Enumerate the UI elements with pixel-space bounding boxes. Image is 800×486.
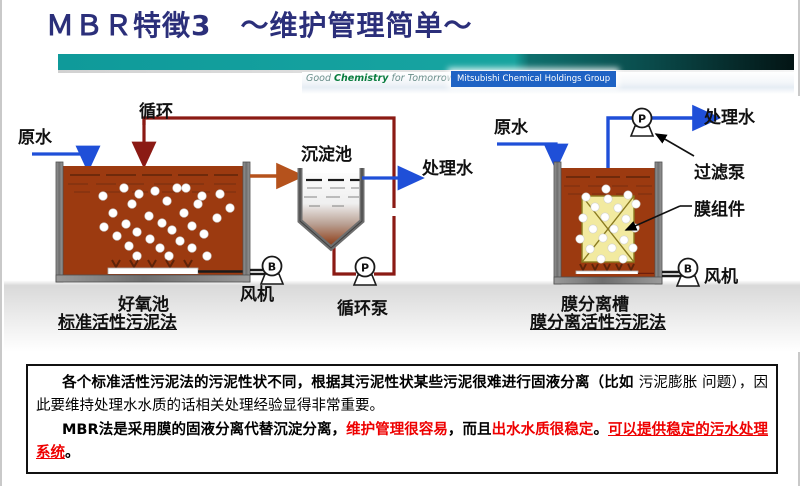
filter-pump-symbol: P — [631, 109, 653, 137]
right-process-group: B P — [497, 109, 716, 287]
brand-bar — [58, 54, 794, 70]
caption-right: 膜分离活性污泥法 — [530, 308, 666, 333]
process-diagram-area: B — [4, 96, 800, 352]
svg-text:B: B — [684, 263, 692, 276]
label-effluent-right: 处理水 — [704, 103, 755, 128]
svg-text:P: P — [361, 262, 369, 275]
caption-left: 标准活性污泥法 — [58, 308, 177, 333]
brand-group-box: Mitsubishi Chemical Holdings Group — [451, 71, 616, 87]
p2-part-a: MBR法是采用膜的固液分离代替沉淀分离， — [62, 422, 346, 438]
label-recycle-pump: 循环泵 — [337, 294, 388, 319]
description-textbox: 各个标准活性污泥法的污泥性状不同，根据其污泥性状某些污泥很难进行固液分离（比如 … — [26, 364, 778, 474]
p2-highlight-1: 维护管理很容易 — [346, 422, 448, 438]
p2-highlight-2: 出水水质很稳定 — [492, 422, 594, 438]
p1-part-b: 污泥膨胀 — [639, 375, 698, 391]
blower-symbol-right: B — [677, 259, 699, 287]
label-influent-right: 原水 — [494, 113, 528, 138]
label-blower-left: 风机 — [240, 280, 274, 305]
label-filter-pump: 过滤泵 — [694, 158, 745, 183]
p2-part-c: 。 — [593, 422, 608, 438]
label-influent-left: 原水 — [18, 123, 52, 148]
slide-root: ＭＢＲ特徴3 ～维护管理简单～ Good Chemistry for Tomor… — [0, 0, 800, 486]
tagline-chemistry: Chemistry — [334, 73, 388, 84]
left-process-group: B — [32, 118, 420, 285]
p1-part-a: 各个标准活性污泥法的污泥性状不同，根据其污泥性状某些污泥很难进行固液分离（比如 — [62, 375, 639, 391]
paragraph-1: 各个标准活性污泥法的污泥性状不同，根据其污泥性状某些污泥很难进行固液分离（比如 … — [36, 372, 768, 419]
svg-text:B: B — [268, 261, 276, 274]
label-clarifier: 沉淀池 — [301, 140, 352, 165]
label-blower-right: 风机 — [704, 262, 738, 287]
paragraph-2: MBR法是采用膜的固液分离代替沉淀分离，维护管理很容易，而且出水水质很稳定。可以… — [36, 419, 768, 466]
label-effluent-left: 处理水 — [422, 154, 473, 179]
tagline-good: Good — [306, 73, 334, 84]
tagline-rest: for Tomorrow — [388, 73, 454, 84]
label-recycle: 循环 — [139, 97, 173, 122]
brand-tagline: Good Chemistry for Tomorrow — [306, 73, 454, 84]
page-title: ＭＢＲ特徴3 ～维护管理简单～ — [46, 4, 472, 44]
recycle-pump-symbol: P — [354, 258, 376, 286]
p2-part-b: ，而且 — [448, 422, 492, 438]
p2-part-d: 。 — [65, 445, 80, 461]
svg-text:P: P — [638, 113, 646, 126]
label-membrane-module: 膜组件 — [694, 195, 745, 220]
